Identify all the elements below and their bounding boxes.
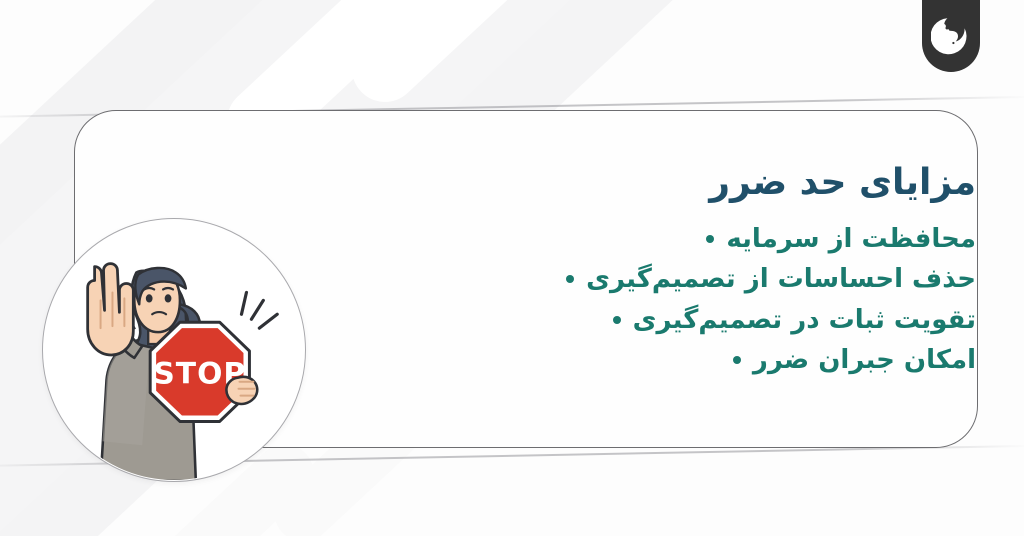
card-content: مزایای حد ضرر محافظت از سرمایه حذف احساس… <box>396 160 976 380</box>
bullet-dot-icon <box>706 235 714 243</box>
watermark-capsule <box>338 0 551 116</box>
list-item-label: تقویت ثبات در تصمیم‌گیری <box>633 300 976 340</box>
list-item-label: حذف احساسات از تصمیم‌گیری <box>586 259 976 299</box>
page-title: مزایای حد ضرر <box>396 160 976 205</box>
poster-canvas: مزایای حد ضرر محافظت از سرمایه حذف احساس… <box>0 0 1024 536</box>
list-item: محافظت از سرمایه <box>396 219 976 259</box>
illustration-circle: STOP <box>42 218 306 482</box>
bullet-dot-icon <box>613 316 621 324</box>
brand-logo <box>922 0 980 72</box>
benefits-list: محافظت از سرمایه حذف احساسات از تصمیم‌گی… <box>396 219 976 380</box>
bullet-dot-icon <box>566 275 574 283</box>
bullet-dot-icon <box>733 356 741 364</box>
list-item: امکان جبران ضرر <box>396 340 976 380</box>
list-item: تقویت ثبات در تصمیم‌گیری <box>396 300 976 340</box>
list-item-label: محافظت از سرمایه <box>726 219 976 259</box>
list-item: حذف احساسات از تصمیم‌گیری <box>396 259 976 299</box>
list-item-label: امکان جبران ضرر <box>753 340 976 380</box>
dotted-circle-icon <box>931 16 971 56</box>
woman-holding-stop-sign-icon: STOP <box>43 219 305 481</box>
